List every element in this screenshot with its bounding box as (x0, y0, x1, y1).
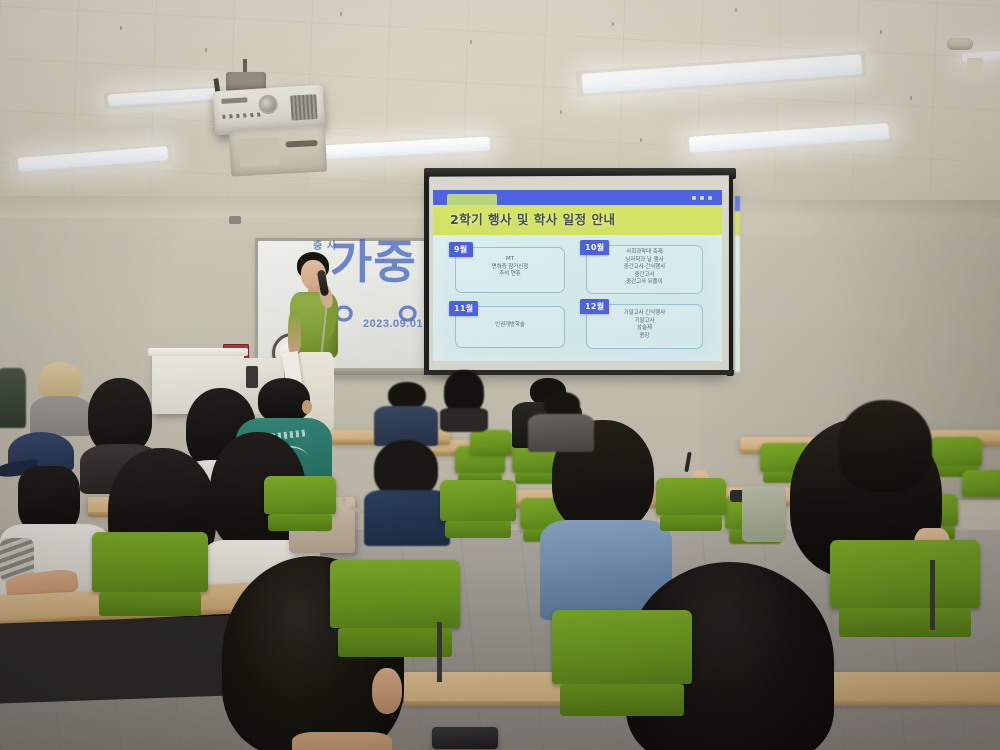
desk-under-panel (0, 615, 231, 704)
presenter-left-arm (288, 310, 301, 354)
torso (528, 414, 594, 452)
window-dot-1 (692, 196, 696, 200)
neck (292, 732, 392, 750)
month-item: 종강 (587, 333, 702, 341)
student-back-right-4 (832, 400, 942, 510)
window-dot-3 (708, 196, 712, 200)
smoke-detector-icon (947, 38, 973, 50)
student-navy-jacket (364, 440, 450, 540)
month-item: 추석 연휴 (456, 271, 564, 279)
lectern-top (148, 348, 248, 356)
month-item: MT (456, 256, 564, 264)
chair (264, 476, 336, 538)
month-item: 상술제 (587, 325, 702, 333)
student-edge-left (0, 368, 26, 428)
student-back-right-2 (440, 370, 488, 428)
torso (440, 408, 488, 432)
month-item: 중간고사 간식행사 (587, 264, 702, 272)
slide-window-tab (447, 194, 497, 205)
window-dot-2 (700, 196, 704, 200)
month-tag-november: 11월 (449, 301, 478, 316)
bag-on-chair (742, 486, 786, 542)
month-items-september: MT 면허증 참가신청 추석 연휴 (456, 256, 564, 279)
ceiling-air-vent (229, 126, 327, 177)
projected-slide: 2학기 행사 및 학사 일정 안내 MT 면허증 참가신청 추석 연휴 9월 사… (433, 190, 722, 361)
student-back-right-3 (528, 392, 594, 448)
chair-leg (437, 622, 442, 682)
chair (830, 540, 980, 650)
smartphone[interactable] (432, 727, 498, 749)
wall-outlet-icon (229, 216, 241, 224)
chair (656, 478, 726, 538)
wall-sensor-icon (967, 58, 983, 80)
month-items-december: 기말고사 간식행사 기말고사 상술제 종강 (587, 310, 702, 340)
hair (838, 400, 932, 492)
torso (364, 490, 450, 546)
chair (440, 480, 516, 546)
ear (372, 668, 402, 714)
projection-spill-on-wall (735, 196, 740, 372)
hair (258, 378, 310, 422)
whiteboard-date: 2023.09.01 (363, 318, 423, 330)
ear (302, 400, 312, 414)
month-tag-september: 9월 (449, 242, 473, 257)
classroom-photo: 중 사 가중 ㅇ ㅇ ㅇ 2023.09.01 2학기 행사 및 학사 일정 안… (0, 0, 1000, 750)
chair (470, 430, 512, 468)
month-item: 인권개방학술 (456, 322, 564, 330)
slide-title: 2학기 행사 및 학사 일정 안내 (450, 209, 615, 228)
chair (92, 532, 208, 628)
month-tag-october: 10월 (580, 240, 609, 255)
month-tag-december: 12월 (580, 299, 609, 314)
chair-leg (930, 560, 935, 630)
month-items-november: 인권개방학술 (456, 322, 564, 330)
chair (552, 610, 692, 730)
month-item: 중간고사 뒤풀이 (587, 279, 702, 287)
student-back-right-1 (374, 382, 438, 442)
chair (962, 470, 1000, 514)
